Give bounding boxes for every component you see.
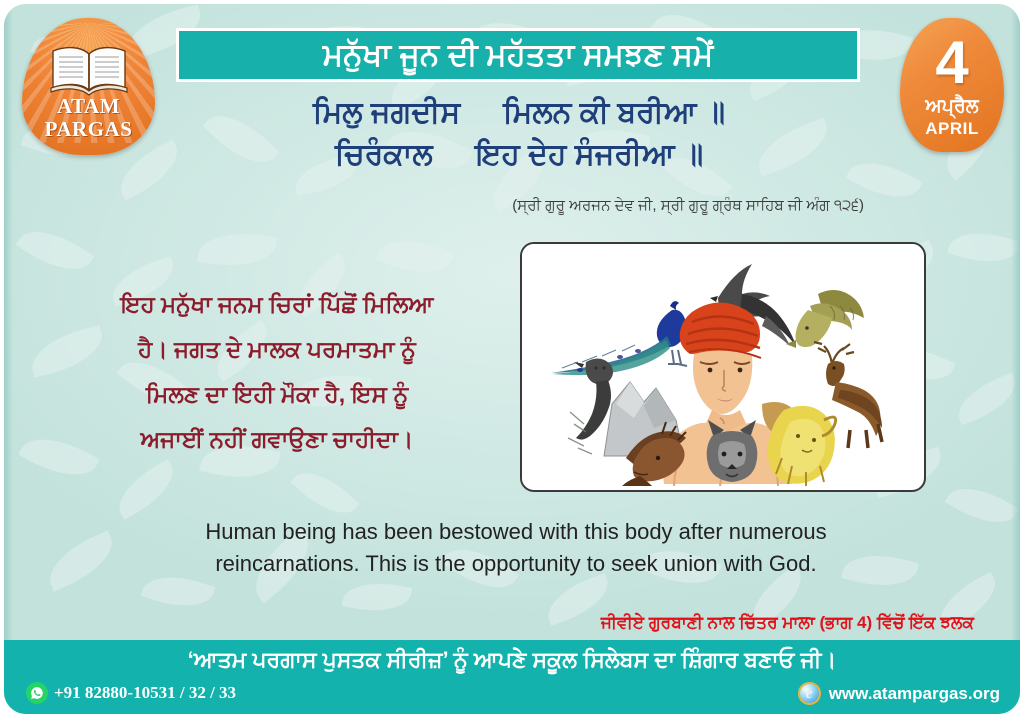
- leaf-shape: [197, 227, 277, 272]
- title-banner: ਮਨੁੱਖਾ ਜੂਨ ਦੀ ਮਹੱਤਤਾ ਸਮਝਣ ਸਮੇਂ: [176, 28, 860, 82]
- footer-website-text: www.atampargas.org: [829, 684, 1000, 704]
- date-month-punjabi: ਅਪ੍ਰੈਲ: [900, 96, 1004, 118]
- illustration-drawing: [522, 244, 920, 486]
- logo-text-line1: ATAM: [22, 95, 155, 118]
- punjabi-body-line-1: ਇਹ ਮਨੁੱਖਾ ਜਨਮ ਚਿਰਾਂ ਪਿੱਛੋਂ ਮਿਲਿਆ: [52, 282, 502, 327]
- illustration-card: [520, 242, 926, 492]
- date-day: 4: [900, 34, 1004, 92]
- leaf-shape: [951, 373, 1020, 426]
- leaf-shape: [109, 459, 183, 520]
- verse-line-1: ਮਿਲੁ ਜਗਦੀਸ ਮਿਲਨ ਕੀ ਬਰੀਆ ॥: [124, 92, 914, 134]
- punjabi-body-line-2: ਹੈ। ਜਗਤ ਦੇ ਮਾਲਕ ਪਰਮਾਤਮਾ ਨੂੰ: [52, 327, 502, 372]
- poster-root: ATAM PARGAS 4 ਅਪ੍ਰੈਲ APRIL ਮਨੁੱਖਾ ਜੂਨ ਦੀ…: [0, 0, 1024, 718]
- atam-pargas-logo[interactable]: ATAM PARGAS: [22, 18, 155, 155]
- logo-text-line2: PARGAS: [22, 118, 155, 141]
- logo-text: ATAM PARGAS: [22, 95, 155, 141]
- browser-icon: e: [798, 682, 821, 705]
- footer-phone[interactable]: +91 82880-10531 / 32 / 33: [26, 682, 236, 704]
- verse-line-2: ਚਿਰੰਕਾਲ ਇਹ ਦੇਹ ਸੰਜਰੀਆ ॥: [124, 134, 914, 176]
- punjabi-body-text: ਇਹ ਮਨੁੱਖਾ ਜਨਮ ਚਿਰਾਂ ਪਿੱਛੋਂ ਮਿਲਿਆ ਹੈ। ਜਗਤ…: [52, 282, 502, 462]
- footer-phone-text: +91 82880-10531 / 32 / 33: [54, 683, 236, 703]
- leaf-shape: [376, 229, 455, 285]
- poster-card: ATAM PARGAS 4 ਅਪ੍ਰੈਲ APRIL ਮਨੁੱਖਾ ਜੂਨ ਦੀ…: [4, 4, 1020, 714]
- verse-citation: (ਸ੍ਰੀ ਗੁਰੂ ਅਰਜਨ ਦੇਵ ਜੀ, ਸ੍ਰੀ ਗੁਰੂ ਗ੍ਰੰਥ …: [124, 196, 864, 216]
- leaf-shape: [947, 223, 1020, 272]
- verse-line-1-part-a: ਮਿਲੁ ਜਗਦੀਸ: [313, 96, 460, 129]
- footer-banner: ‘ਆਤਮ ਪਰਗਾਸ ਪੁਸਤਕ ਸੀਰੀਜ਼’ ਨੂੰ ਆਪਣੇ ਸਕੂਲ ਸ…: [4, 640, 1020, 714]
- footer-headline: ‘ਆਤਮ ਪਰਗਾਸ ਪੁਸਤਕ ਸੀਰੀਜ਼’ ਨੂੰ ਆਪਣੇ ਸਕੂਲ ਸ…: [4, 644, 1020, 676]
- left-edge-shade: [4, 4, 13, 714]
- date-month-english: APRIL: [900, 119, 1004, 139]
- verse-line-2-part-a: ਚਿਰੰਕਾਲ: [335, 138, 433, 171]
- date-badge[interactable]: 4 ਅਪ੍ਰੈਲ APRIL: [900, 18, 1004, 152]
- right-edge-shade: [1011, 4, 1020, 714]
- english-body-line-2: reincarnations. This is the opportunity …: [66, 548, 966, 580]
- punjabi-body-line-4: ਅਜਾਈਂ ਨਹੀਂ ਗਵਾਉਣਾ ਚਾਹੀਦਾ।: [52, 417, 502, 462]
- credit-line: ਜੀਵੀਏ ਗੁਰਬਾਣੀ ਨਾਲ ਚਿੱਤਰ ਮਾਲਾ (ਭਾਗ 4) ਵਿੱ…: [104, 612, 974, 634]
- punjabi-body-line-3: ਮਿਲਣ ਦਾ ਇਹੀ ਮੌਕਾ ਹੈ, ਇਸ ਨੂੰ: [52, 372, 502, 417]
- english-body-text: Human being has been bestowed with this …: [66, 516, 966, 580]
- whatsapp-icon: [26, 682, 48, 704]
- leaf-shape: [16, 217, 94, 284]
- verse-line-1-part-b: ਮਿਲਨ ਕੀ ਬਰੀਆ ॥: [503, 96, 725, 129]
- page-title: ਮਨੁੱਖਾ ਜੂਨ ਦੀ ਮਹੱਤਤਾ ਸਮਝਣ ਸਮੇਂ: [179, 31, 857, 79]
- verse-block: ਮਿਲੁ ਜਗਦੀਸ ਮਿਲਨ ਕੀ ਬਰੀਆ ॥ ਚਿਰੰਕਾਲ ਇਹ ਦੇਹ…: [124, 92, 914, 176]
- verse-line-2-part-b: ਇਹ ਦੇਹ ਸੰਜਰੀਆ ॥: [475, 138, 703, 171]
- footer-website[interactable]: e www.atampargas.org: [798, 682, 1000, 705]
- english-body-line-1: Human being has been bestowed with this …: [66, 516, 966, 548]
